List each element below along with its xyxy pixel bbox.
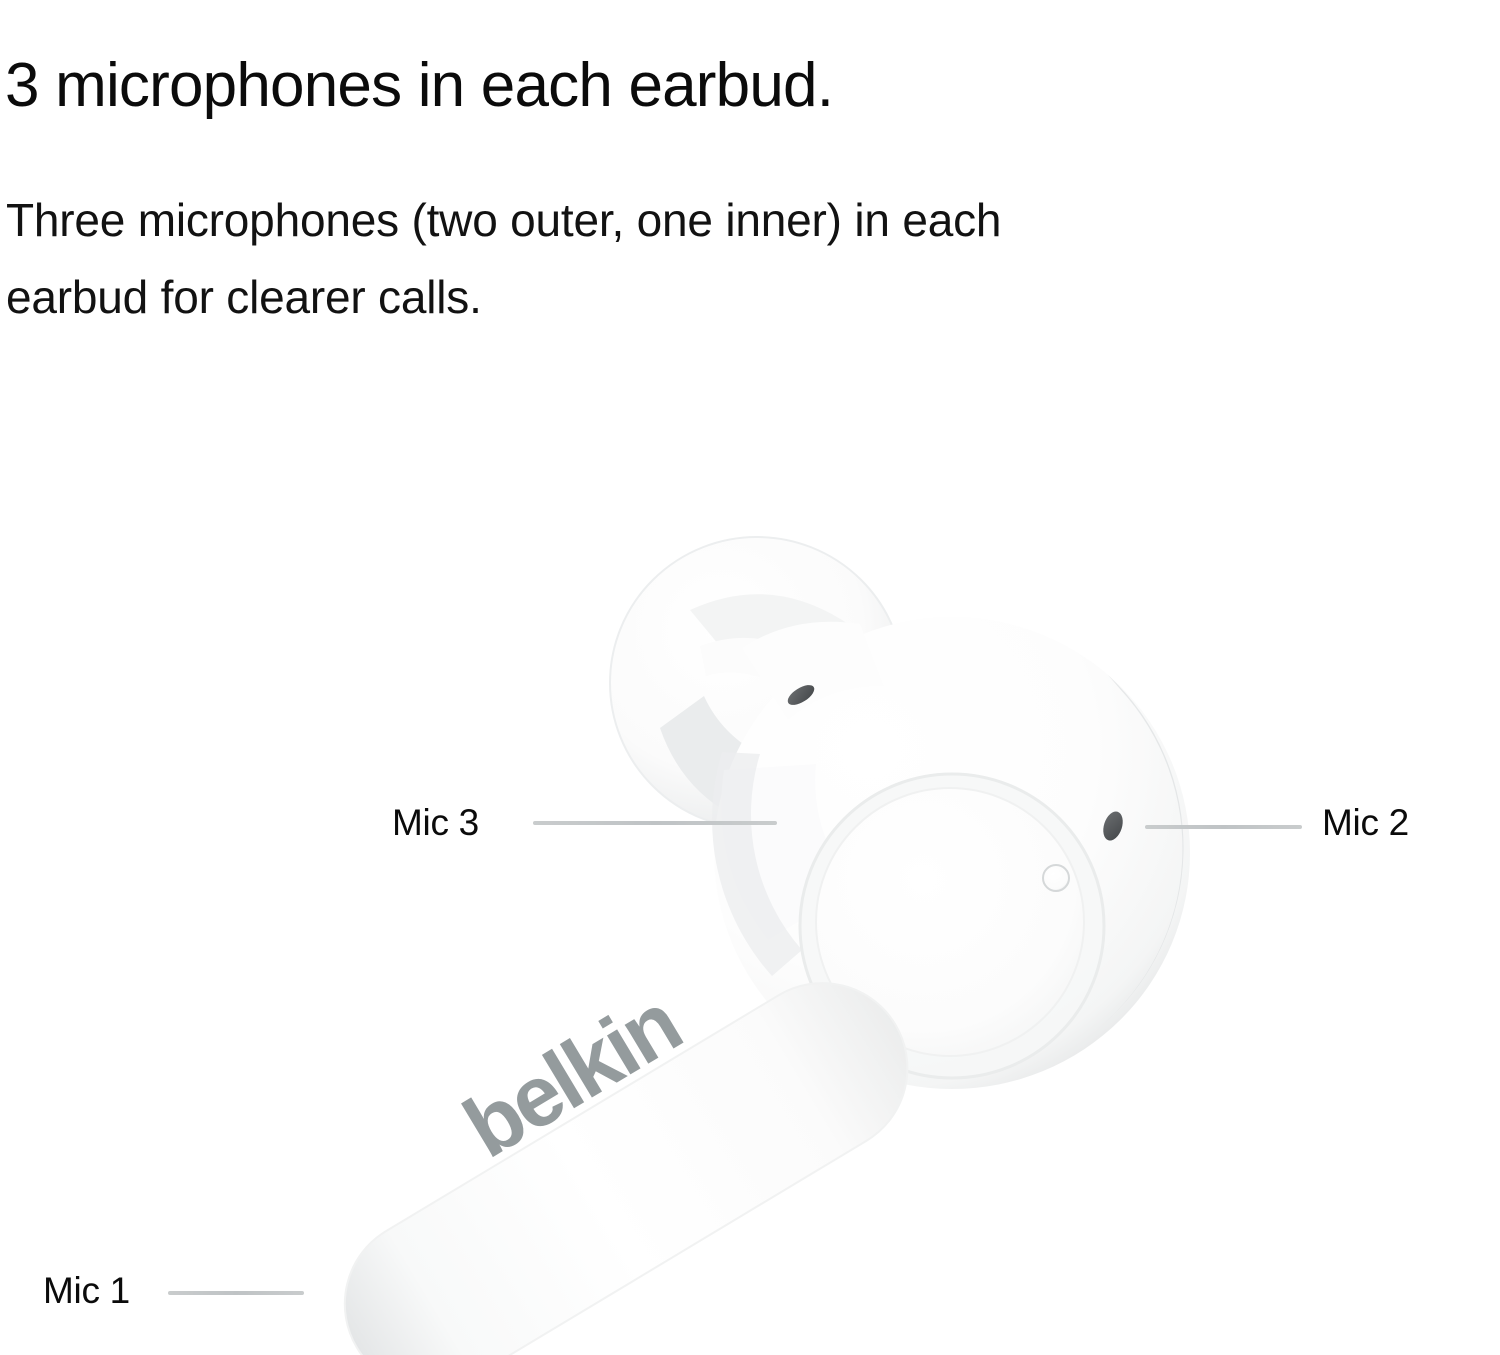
callout-label-mic3: Mic 3 [392, 803, 479, 843]
callout-label-mic1: Mic 1 [43, 1271, 130, 1311]
callout-leader-line-mic1 [168, 1291, 304, 1295]
description-line-2: earbud for clearer calls. [6, 259, 1476, 336]
page-title: 3 microphones in each earbud. [5, 52, 1465, 120]
earbud-stem: belkin [313, 951, 939, 1355]
callout-leader-line-mic2 [1145, 825, 1302, 829]
callout-leader-line-mic3 [533, 821, 777, 825]
description-line-1: Three microphones (two outer, one inner)… [6, 182, 1476, 259]
infographic-canvas: 3 microphones in each earbud. Three micr… [0, 0, 1500, 1355]
description-text: Three microphones (two outer, one inner)… [6, 182, 1476, 336]
callout-label-mic2: Mic 2 [1322, 803, 1409, 843]
led-indicator [1043, 865, 1069, 891]
earbud-product-image: belkin [0, 470, 1500, 1355]
